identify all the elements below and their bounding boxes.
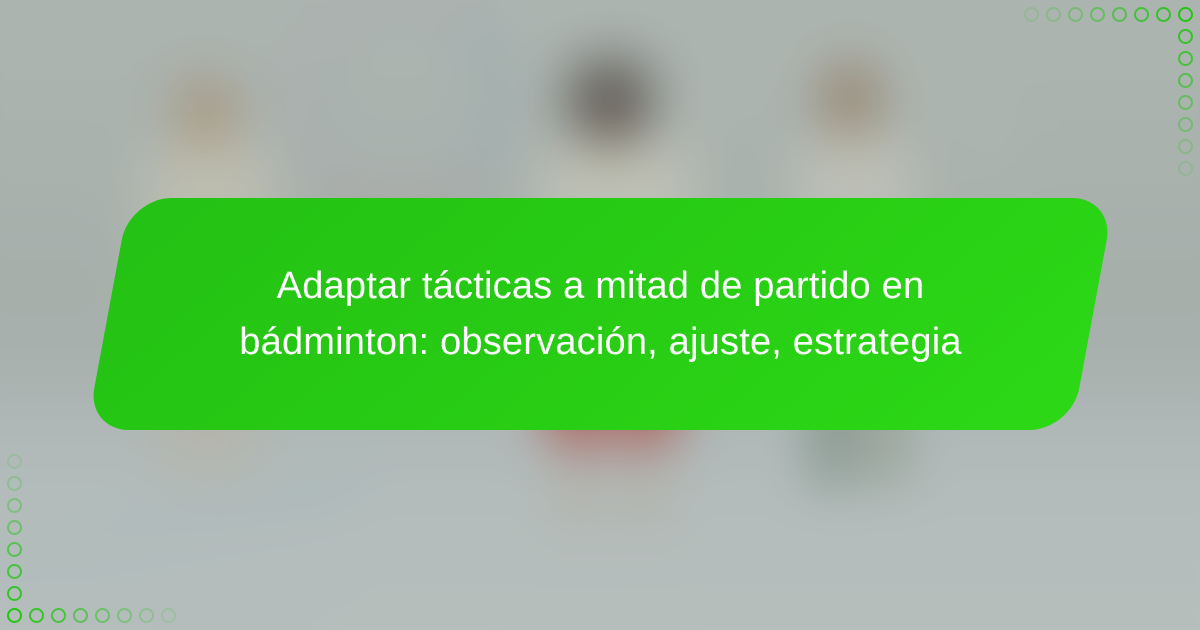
title-banner-text: Adaptar tácticas a mitad de partido en b…: [108, 198, 1093, 430]
social-card: Adaptar tácticas a mitad de partido en b…: [0, 0, 1200, 630]
title-line-1: Adaptar tácticas a mitad de partido en: [277, 258, 925, 314]
title-line-2: bádminton: observación, ajuste, estrateg…: [239, 314, 961, 370]
